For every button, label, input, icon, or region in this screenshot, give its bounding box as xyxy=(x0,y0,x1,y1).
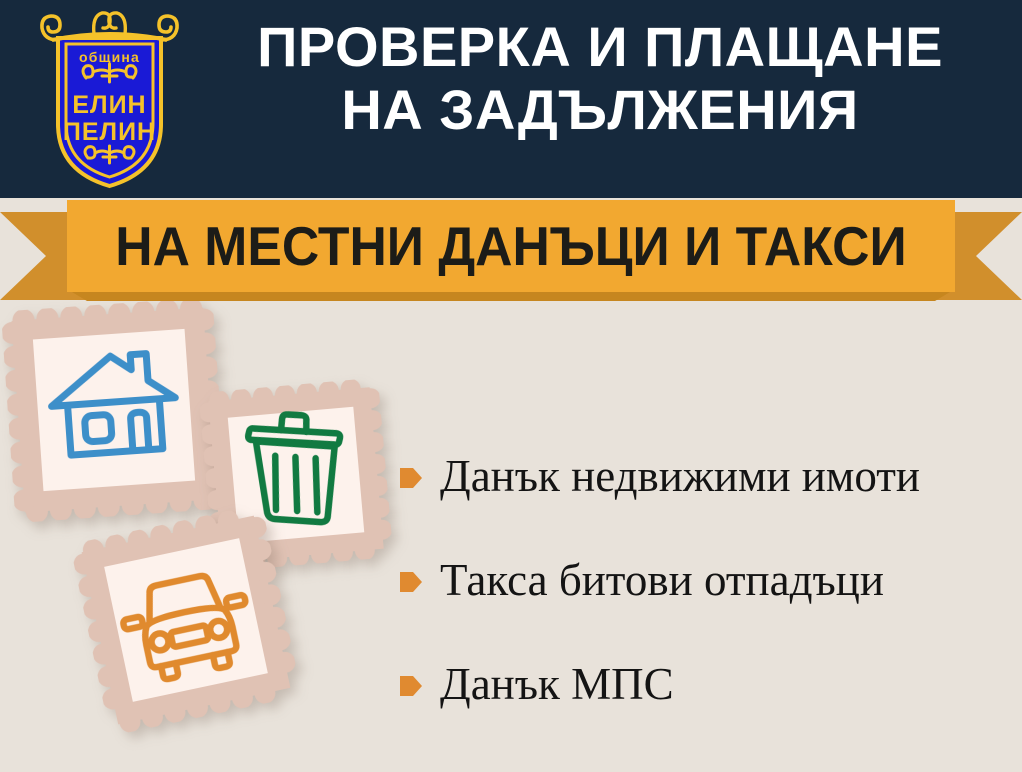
service-list: Данък недвижими имоти Такса битови отпад… xyxy=(400,424,1022,736)
stamp-paper xyxy=(33,329,195,491)
arrow-bullet-icon xyxy=(400,673,422,699)
stamp-card-vehicle-tax xyxy=(70,504,302,736)
emblem-text-pelin: ПЕЛИН xyxy=(63,118,156,146)
municipality-emblem: община ЕЛИН ПЕЛИН xyxy=(32,6,187,192)
arrow-bullet-icon xyxy=(400,569,422,595)
list-item[interactable]: Такса битови отпадъци xyxy=(400,528,1022,632)
list-item-label: Такса битови отпадъци xyxy=(440,558,884,603)
list-item[interactable]: Данък МПС xyxy=(400,632,1022,736)
ribbon-text: НА МЕСТНИ ДАНЪЦИ И ТАКСИ xyxy=(115,214,906,278)
arrow-bullet-icon xyxy=(400,465,422,491)
poster-canvas: община ЕЛИН ПЕЛИН ПРОВЕРКА xyxy=(0,0,1022,772)
page-title: ПРОВЕРКА И ПЛАЩАНЕ НА ЗАДЪЛЖЕНИЯ xyxy=(190,16,1010,141)
list-item-label: Данък МПС xyxy=(440,662,674,707)
ribbon-band: НА МЕСТНИ ДАНЪЦИ И ТАКСИ xyxy=(67,200,955,292)
page-title-line-2: НА ЗАДЪЛЖЕНИЯ xyxy=(190,79,1010,142)
list-item-label: Данък недвижими имоти xyxy=(440,454,920,499)
stamp-group xyxy=(0,290,420,772)
stamp-card-property-tax xyxy=(1,297,227,523)
emblem-text-elin: ЕЛИН xyxy=(72,91,146,119)
page-title-line-1: ПРОВЕРКА И ПЛАЩАНЕ xyxy=(190,16,1010,79)
list-item[interactable]: Данък недвижими имоти xyxy=(400,424,1022,528)
coat-of-arms-shield-icon: община ЕЛИН ПЕЛИН xyxy=(32,6,187,192)
ribbon-banner: НА МЕСТНИ ДАНЪЦИ И ТАКСИ xyxy=(0,197,1022,307)
